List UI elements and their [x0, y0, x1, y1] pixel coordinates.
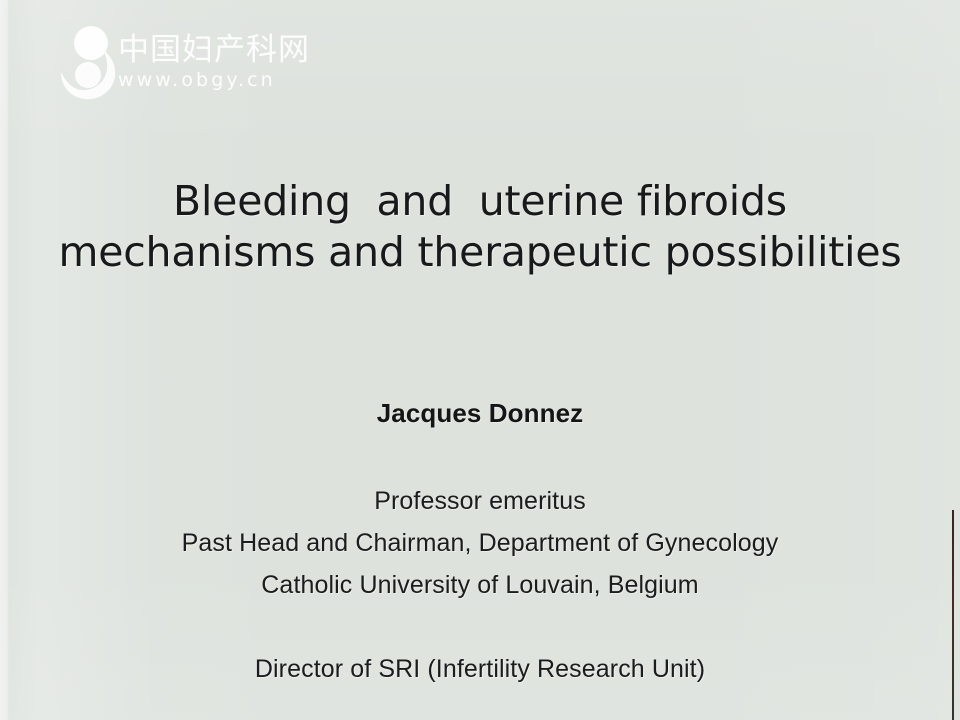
watermark-text-group: 中国妇产科网 www.obgy.cn [118, 32, 310, 91]
affiliation-block: Professor emeritus Past Head and Chairma… [0, 480, 960, 606]
author-name: Jacques Donnez [0, 396, 960, 430]
site-watermark-logo: 中国妇产科网 www.obgy.cn [58, 26, 308, 108]
slide-title: Bleeding and uterine fibroids mechanisms… [0, 176, 960, 278]
affiliation-line: Catholic University of Louvain, Belgium [0, 564, 960, 606]
watermark-url: www.obgy.cn [118, 69, 310, 91]
mother-and-child-circles-icon [58, 26, 120, 102]
background-gradient-overlay [0, 0, 960, 720]
role-line: Director of SRI (Infertility Research Un… [0, 652, 960, 686]
watermark-chinese-name: 中国妇产科网 [118, 32, 310, 68]
background-vertical-overlay [0, 0, 960, 720]
affiliation-line: Past Head and Chairman, Department of Gy… [0, 522, 960, 564]
title-line-2: mechanisms and therapeutic possibilities [0, 227, 960, 278]
affiliation-line: Professor emeritus [0, 480, 960, 522]
title-line-1: Bleeding and uterine fibroids [0, 176, 960, 227]
right-edge-margin-strip [954, 510, 960, 720]
presentation-slide: 中国妇产科网 www.obgy.cn Bleeding and uterine … [0, 0, 960, 720]
